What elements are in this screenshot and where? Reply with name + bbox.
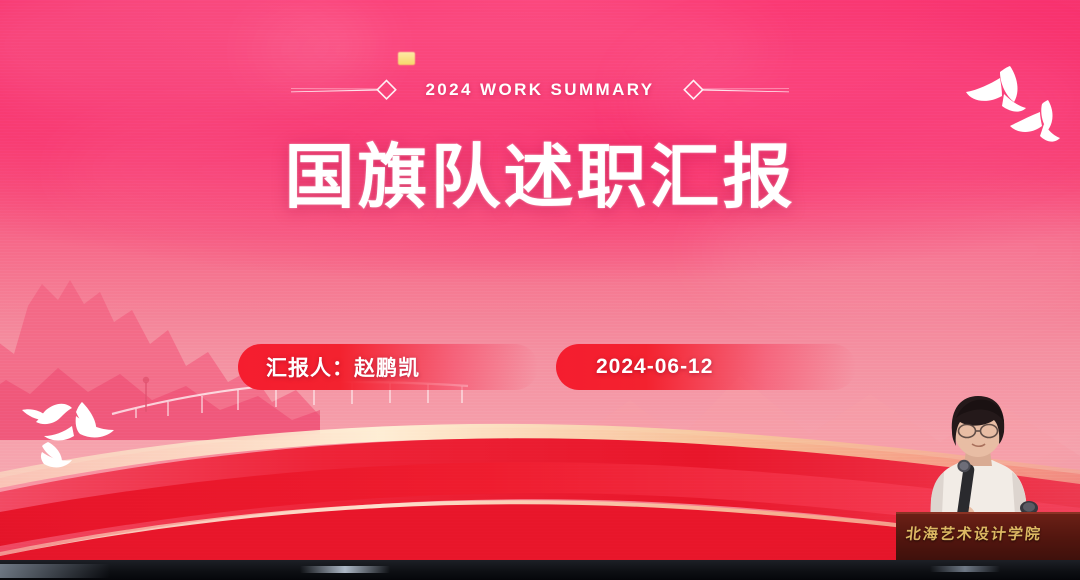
- date-pill: 2024-06-12: [556, 344, 856, 390]
- speaker-pill: 汇报人：赵鹏凯: [238, 344, 538, 390]
- yellow-light-flare: [398, 52, 415, 65]
- bezel-reflection: [0, 564, 110, 578]
- podium-inscription: 北海艺术设计学院: [905, 523, 1080, 544]
- photo-of-presentation-screen: 2024 WORK SUMMARY 国旗队述职汇报 汇报人：赵鹏凯 2024-0…: [0, 0, 1080, 580]
- slide-eyebrow: 2024 WORK SUMMARY: [399, 80, 680, 100]
- slide-background: 2024 WORK SUMMARY 国旗队述职汇报 汇报人：赵鹏凯 2024-0…: [0, 0, 1080, 566]
- slide-title: 国旗队述职汇报: [0, 140, 1080, 216]
- lamp-post-icon: [143, 377, 149, 412]
- diamond-line-ornament-right-icon: [681, 78, 789, 102]
- diamond-line-ornament-left-icon: [291, 78, 399, 102]
- eyebrow-row: 2024 WORK SUMMARY: [0, 72, 1080, 108]
- podium: 北海艺术设计学院: [896, 512, 1080, 566]
- bezel-reflection: [300, 566, 390, 573]
- display-bezel: [0, 560, 1080, 580]
- bezel-reflection: [930, 566, 1000, 572]
- dove-trio-icon: [10, 380, 140, 480]
